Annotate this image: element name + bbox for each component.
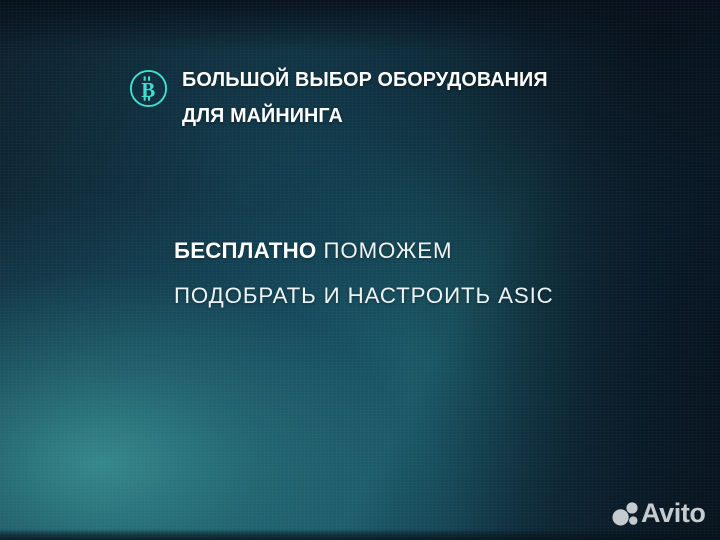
avito-logo: Avito	[611, 500, 706, 527]
main-headline-emphasis: БЕСПЛАТНО	[174, 238, 316, 263]
main-headline-block: БЕСПЛАТНО ПОМОЖЕМ ПОДОБРАТЬ И НАСТРОИТЬ …	[174, 228, 558, 318]
main-headline-line-1: БЕСПЛАТНО ПОМОЖЕМ	[174, 228, 554, 273]
main-headline-line-2: ПОДОБРАТЬ И НАСТРОИТЬ ASIC	[174, 273, 554, 318]
top-headline-line-1: БОЛЬШОЙ ВЫБОР ОБОРУДОВАНИЯ	[182, 62, 548, 98]
bitcoin-icon: B	[128, 68, 169, 109]
main-headline-line-1-rest: ПОМОЖЕМ	[323, 238, 452, 263]
top-headline-block: B БОЛЬШОЙ ВЫБОР ОБОРУДОВАНИЯ ДЛЯ МАЙНИНГ…	[128, 62, 561, 134]
background-top-vignette	[0, 0, 720, 52]
top-headline-lines: БОЛЬШОЙ ВЫБОР ОБОРУДОВАНИЯ ДЛЯ МАЙНИНГА	[182, 62, 561, 134]
avito-wordmark: Avito	[641, 500, 706, 527]
promo-banner: B БОЛЬШОЙ ВЫБОР ОБОРУДОВАНИЯ ДЛЯ МАЙНИНГ…	[0, 0, 720, 540]
top-headline-line-2: ДЛЯ МАЙНИНГА	[182, 98, 548, 134]
background-bottom-vignette	[0, 529, 720, 540]
svg-text:B: B	[141, 78, 155, 102]
avito-dots-icon	[611, 501, 639, 527]
